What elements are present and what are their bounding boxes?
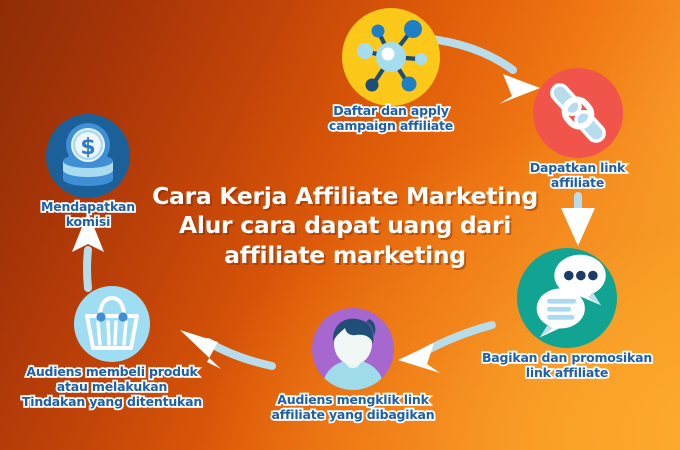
click-circle xyxy=(312,308,394,390)
register-circle xyxy=(342,8,440,106)
buy-circle xyxy=(74,286,150,362)
commission-circle: $ xyxy=(46,114,130,198)
page-title: Cara Kerja Affiliate Marketing Alur cara… xyxy=(150,182,540,270)
click-label: Audiens mengklik link affiliate yang dib… xyxy=(272,393,435,423)
svg-text:$: $ xyxy=(80,135,95,160)
coin-stack-dollar-icon: $ xyxy=(52,120,124,192)
step-node-register[interactable]: Daftar dan apply campaign affiliate xyxy=(296,8,486,134)
step-node-buy[interactable]: Audiens membeli produk atau melakukan Ti… xyxy=(12,286,212,409)
step-node-getlink[interactable]: Dapatkan link affiliate xyxy=(490,68,665,191)
chain-link-icon xyxy=(540,75,616,151)
getlink-circle xyxy=(533,68,623,158)
infographic-canvas: Daftar dan apply campaign affiliate Dapa… xyxy=(0,0,680,450)
buy-label: Audiens membeli produk atau melakukan Ti… xyxy=(22,365,202,409)
title-line-2: Alur cara dapat uang dari xyxy=(150,211,540,240)
share-label: Bagikan dan promosikan link affiliate xyxy=(482,351,652,381)
person-avatar-icon xyxy=(312,308,394,390)
speech-bubbles-icon xyxy=(527,238,617,350)
speech-bubble-lines xyxy=(537,288,585,337)
getlink-label: Dapatkan link affiliate xyxy=(530,161,625,191)
step-node-click[interactable]: Audiens mengklik link affiliate yang dib… xyxy=(258,308,448,423)
register-label: Daftar dan apply campaign affiliate xyxy=(329,104,453,134)
title-line-3: affiliate marketing xyxy=(150,241,540,270)
commission-label: Mendapatkan komisi xyxy=(41,200,135,230)
title-line-1: Cara Kerja Affiliate Marketing xyxy=(150,182,540,211)
step-node-commission[interactable]: $ Mendapatkan komisi xyxy=(18,114,158,230)
shopping-basket-icon xyxy=(81,294,143,354)
network-nodes-icon xyxy=(348,14,434,100)
